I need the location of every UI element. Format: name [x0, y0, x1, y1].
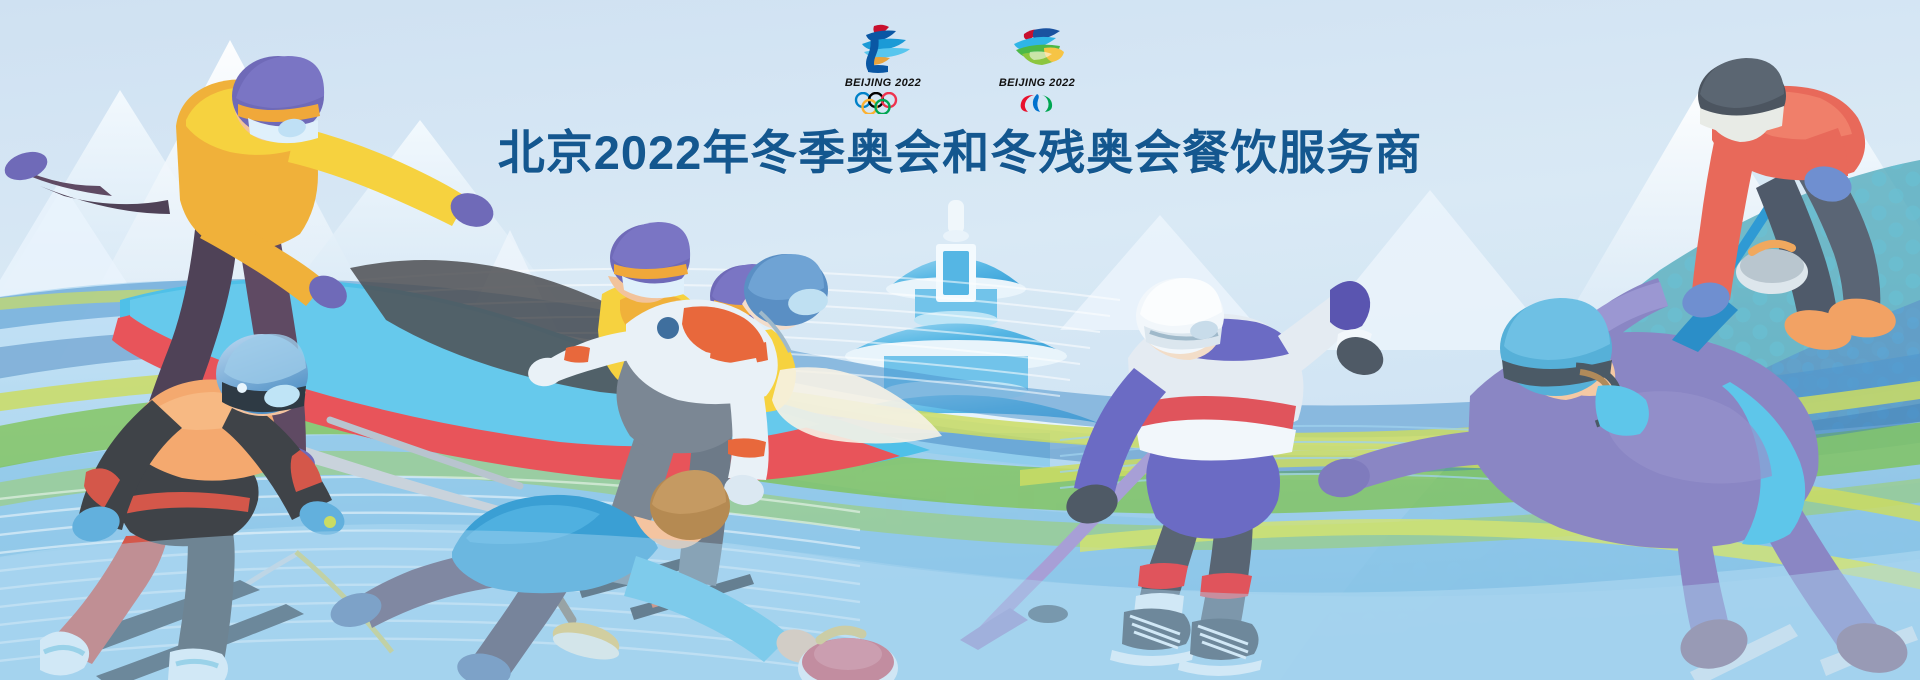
paralympic-wordmark: BEIJING 2022 [999, 77, 1075, 89]
olympic-wordmark: BEIJING 2022 [845, 77, 921, 89]
paralympic-emblem[interactable]: BEIJING 2022 [987, 22, 1087, 114]
agitos-icon [1006, 92, 1068, 114]
olympic-emblem[interactable]: BEIJING 2022 [833, 22, 933, 114]
emblem-row: BEIJING 2022 [833, 22, 1087, 114]
page-title: 北京2022年冬季奥会和冬残奥会餐饮服务商 [498, 128, 1423, 177]
olympic-ribbon-icon [846, 22, 920, 74]
beijing-2022-banner: BEIJING 2022 [0, 0, 1920, 680]
paralympic-ribbon-icon [1000, 22, 1074, 74]
olympic-rings-icon [852, 92, 914, 114]
